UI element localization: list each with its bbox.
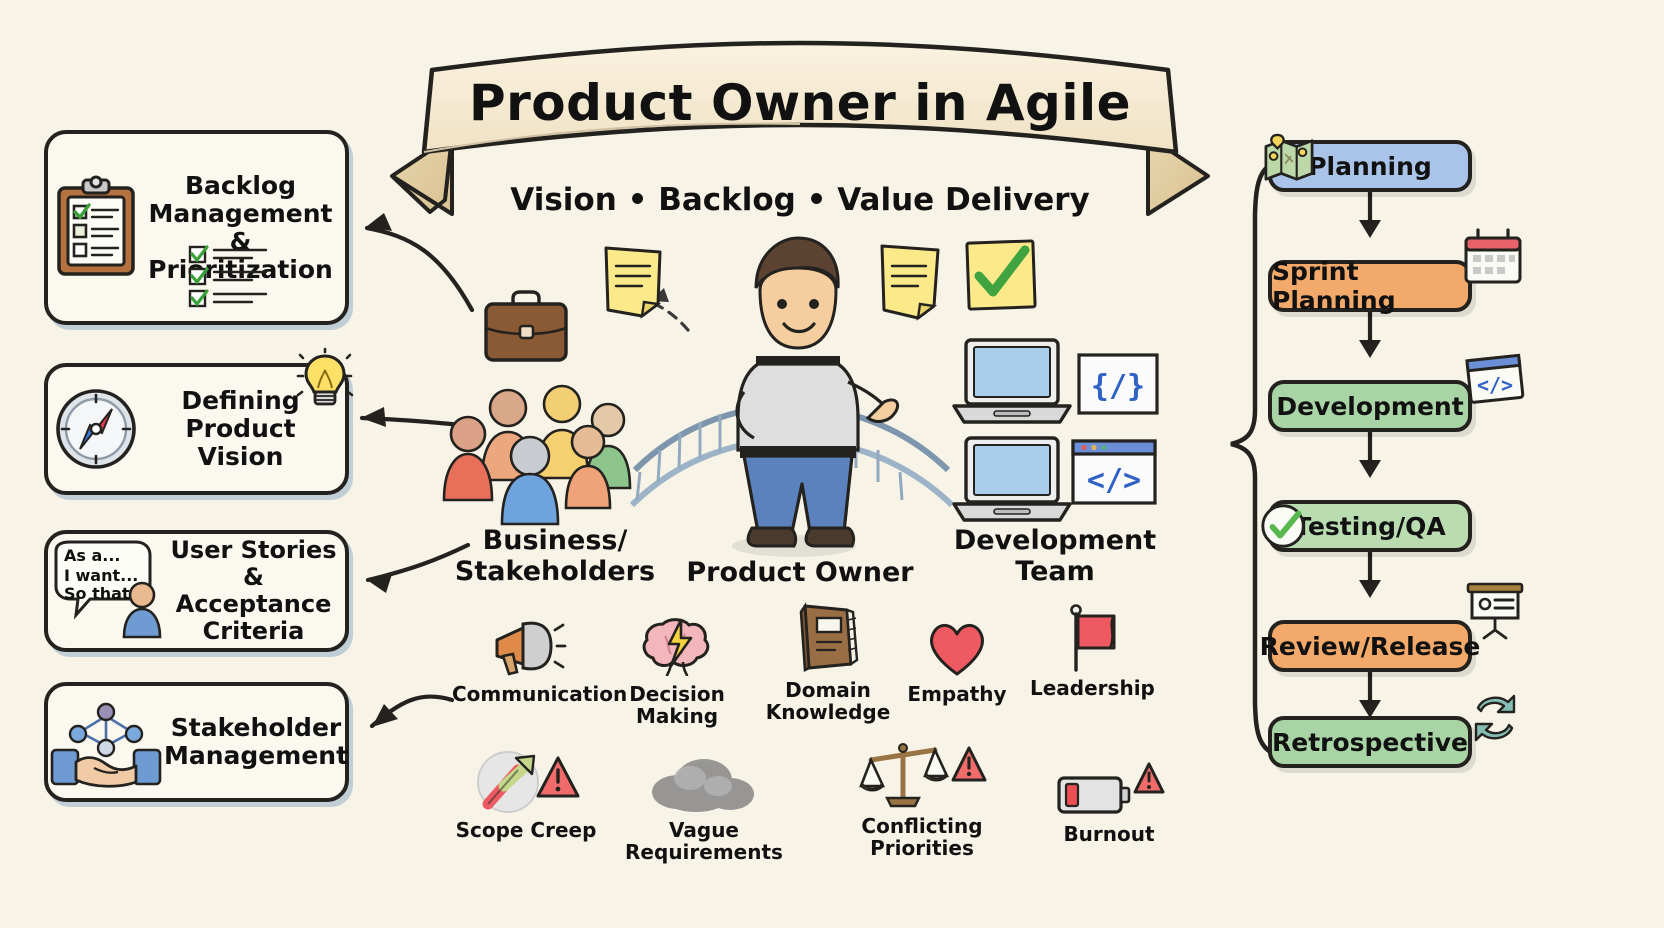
challenge-label: Burnout	[1034, 823, 1184, 845]
flow-step-label: Review/Release	[1260, 632, 1481, 661]
skill-leadership: Leadership	[1030, 606, 1154, 699]
flow-arrows	[1340, 130, 1420, 770]
code-window-icon: {/}	[1076, 352, 1160, 420]
lightbulb-icon	[296, 348, 354, 414]
svg-text:{/}: {/}	[1091, 369, 1145, 404]
connector-arrowheads	[361, 213, 398, 727]
skill-communication: Communication	[452, 612, 602, 705]
svg-text:</>: </>	[1477, 373, 1513, 397]
clipboard-checklist-icon	[48, 176, 144, 280]
flow-step-label: Retrospective	[1272, 728, 1468, 757]
challenge-burnout: Burnout	[1034, 752, 1184, 845]
check-circle-icon	[1258, 500, 1312, 552]
flow-step-sprint-planning[interactable]: Sprint Planning	[1268, 260, 1472, 312]
growth-arrow-icon	[450, 748, 602, 814]
banner-subtitle: Vision • Backlog • Value Delivery	[370, 182, 1230, 218]
responsibility-card-label: User Stories & Acceptance Criteria	[170, 537, 345, 645]
compass-icon	[48, 383, 144, 475]
book-icon	[758, 608, 898, 674]
title-banner: Product Owner in Agile	[370, 30, 1230, 205]
speech-bubble-user-icon: As a... I want... So that...	[48, 539, 170, 643]
green-check-note-icon	[962, 236, 1042, 316]
flow-step-label: Sprint Planning	[1272, 257, 1468, 315]
flow-step-label: Planning	[1308, 152, 1432, 181]
flow-step-label: Testing/QA	[1294, 512, 1446, 541]
mini-checklist-icon	[188, 245, 318, 311]
page-title: Product Owner in Agile	[370, 74, 1230, 132]
skill-label: Communication	[452, 683, 602, 705]
flow-step-label: Development	[1276, 392, 1463, 421]
story-line-1: As a...	[64, 546, 121, 565]
challenge-scope-creep: Scope Creep	[450, 748, 602, 841]
challenge-label: Vague Requirements	[604, 819, 804, 864]
presentation-board-icon	[1464, 580, 1526, 638]
responsibility-card-label: Stakeholder Management	[164, 714, 356, 770]
skill-domain-knowledge: Domain Knowledge	[758, 608, 898, 724]
responsibility-card-stakeholder-management[interactable]: Stakeholder Management	[44, 682, 349, 802]
group-label-stakeholders: Business/ Stakeholders	[440, 525, 670, 587]
flag-icon	[1030, 606, 1154, 672]
challenge-conflicting-priorities: Conflicting Priorities	[820, 744, 1024, 860]
skill-label: Decision Making	[612, 683, 742, 728]
calendar-icon	[1462, 228, 1524, 288]
skill-label: Domain Knowledge	[758, 679, 898, 724]
responsibility-card-user-stories[interactable]: As a... I want... So that... User Storie…	[44, 530, 349, 652]
heart-icon	[902, 612, 1012, 678]
group-label-development-team: Development Team	[940, 525, 1170, 587]
megaphone-icon	[452, 612, 602, 678]
flow-step-review-release[interactable]: Review/Release	[1268, 620, 1472, 672]
skill-label: Leadership	[1030, 677, 1154, 699]
low-battery-icon	[1034, 752, 1184, 818]
briefcase-icon	[480, 288, 572, 366]
svg-text:</>: </>	[1087, 463, 1141, 498]
skill-decision-making: Decision Making	[612, 612, 742, 728]
refresh-cycle-icon	[1466, 690, 1524, 746]
people-group-icon	[440, 370, 660, 530]
product-owner-person-icon	[698, 232, 898, 562]
skill-empathy: Empathy	[902, 612, 1012, 705]
sticky-note-icon	[602, 244, 666, 320]
map-icon	[1262, 133, 1316, 185]
flow-step-retrospective[interactable]: Retrospective	[1268, 716, 1472, 768]
cloud-icon	[604, 748, 804, 814]
scales-icon	[820, 744, 1024, 810]
flow-step-development[interactable]: Development	[1268, 380, 1472, 432]
code-window-icon: </>	[1466, 352, 1524, 406]
challenge-label: Scope Creep	[450, 819, 602, 841]
infographic-canvas: Product Owner in Agile Vision • Backlog …	[0, 0, 1664, 928]
group-label-product-owner: Product Owner	[660, 557, 940, 588]
story-line-2: I want...	[64, 566, 138, 585]
challenge-label: Conflicting Priorities	[820, 815, 1024, 860]
brain-bolt-icon	[612, 612, 742, 678]
code-window-icon: </>	[1070, 438, 1158, 510]
challenge-vague-requirements: Vague Requirements	[604, 748, 804, 864]
skill-label: Empathy	[902, 683, 1012, 705]
handshake-network-icon	[48, 694, 164, 790]
